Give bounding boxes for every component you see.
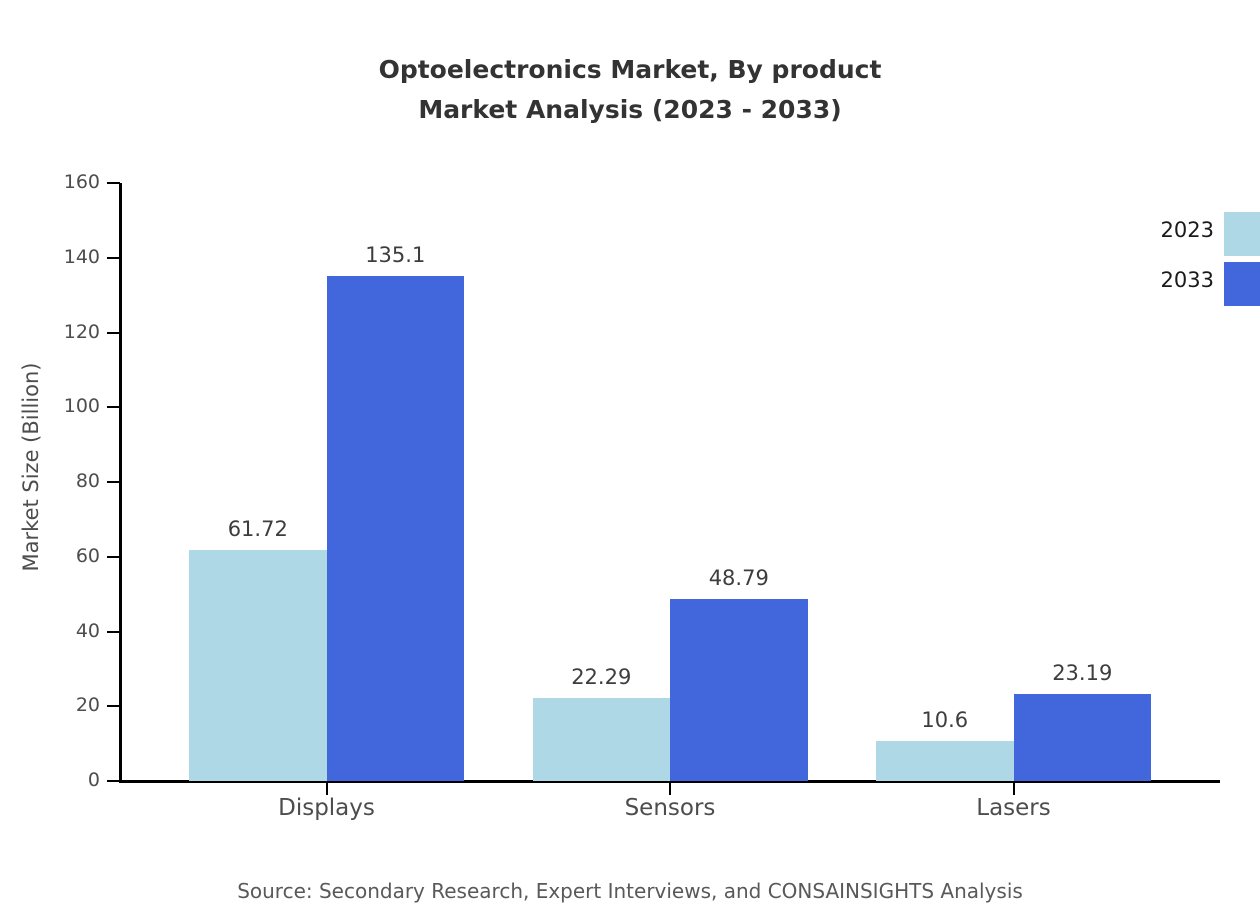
y-tick-mark — [107, 631, 120, 633]
bar-sensors-2033[interactable] — [670, 599, 808, 781]
y-tick-label: 120 — [40, 323, 100, 342]
legend-item-2033[interactable]: 2033 — [1100, 260, 1260, 304]
source-note: Source: Secondary Research, Expert Inter… — [0, 878, 1260, 904]
y-tick-label: 60 — [40, 547, 100, 566]
y-tick-mark — [107, 780, 120, 782]
bar-lasers-2033[interactable] — [1014, 694, 1152, 781]
bar-value-label-sensors-2033: 48.79 — [639, 568, 839, 589]
y-tick-label: 80 — [40, 472, 100, 491]
x-tick-label-lasers: Lasers — [884, 794, 1144, 822]
bar-value-label-lasers-2023: 10.6 — [845, 710, 1045, 731]
bar-sensors-2023[interactable] — [533, 698, 671, 781]
y-tick-label: 140 — [40, 248, 100, 267]
y-tick-mark — [107, 556, 120, 558]
y-tick-mark — [107, 182, 120, 184]
legend-label-2033: 2033 — [1161, 268, 1214, 292]
y-tick-label: 20 — [40, 696, 100, 715]
x-tick-label-displays: Displays — [197, 794, 457, 822]
chart-figure: Optoelectronics Market, By product Marke… — [0, 0, 1260, 920]
y-tick-mark — [107, 332, 120, 334]
plot-area — [121, 183, 1218, 781]
y-tick-label: 0 — [40, 771, 100, 790]
chart-title-line-2: Market Analysis (2023 - 2033) — [0, 90, 1260, 130]
y-tick-label: 160 — [40, 173, 100, 192]
chart-legend: 20232033 — [1100, 210, 1260, 310]
y-tick-mark — [107, 257, 120, 259]
legend-swatch-2033 — [1224, 262, 1260, 306]
x-tick-label-sensors: Sensors — [540, 794, 800, 822]
y-tick-mark — [107, 705, 120, 707]
bar-lasers-2023[interactable] — [876, 741, 1014, 781]
y-tick-mark — [107, 481, 120, 483]
chart-title-line-1: Optoelectronics Market, By product — [0, 50, 1260, 90]
bar-displays-2023[interactable] — [189, 550, 327, 781]
y-tick-label: 40 — [40, 622, 100, 641]
y-tick-label: 100 — [40, 397, 100, 416]
legend-swatch-2023 — [1224, 212, 1260, 256]
legend-label-2023: 2023 — [1161, 218, 1214, 242]
chart-title: Optoelectronics Market, By product Marke… — [0, 50, 1260, 130]
legend-item-2023[interactable]: 2023 — [1100, 210, 1260, 254]
bar-value-label-lasers-2033: 23.19 — [982, 663, 1182, 684]
bar-value-label-displays-2033: 135.1 — [295, 245, 495, 266]
y-tick-mark — [107, 406, 120, 408]
bar-value-label-displays-2023: 61.72 — [158, 519, 358, 540]
bar-value-label-sensors-2023: 22.29 — [501, 667, 701, 688]
